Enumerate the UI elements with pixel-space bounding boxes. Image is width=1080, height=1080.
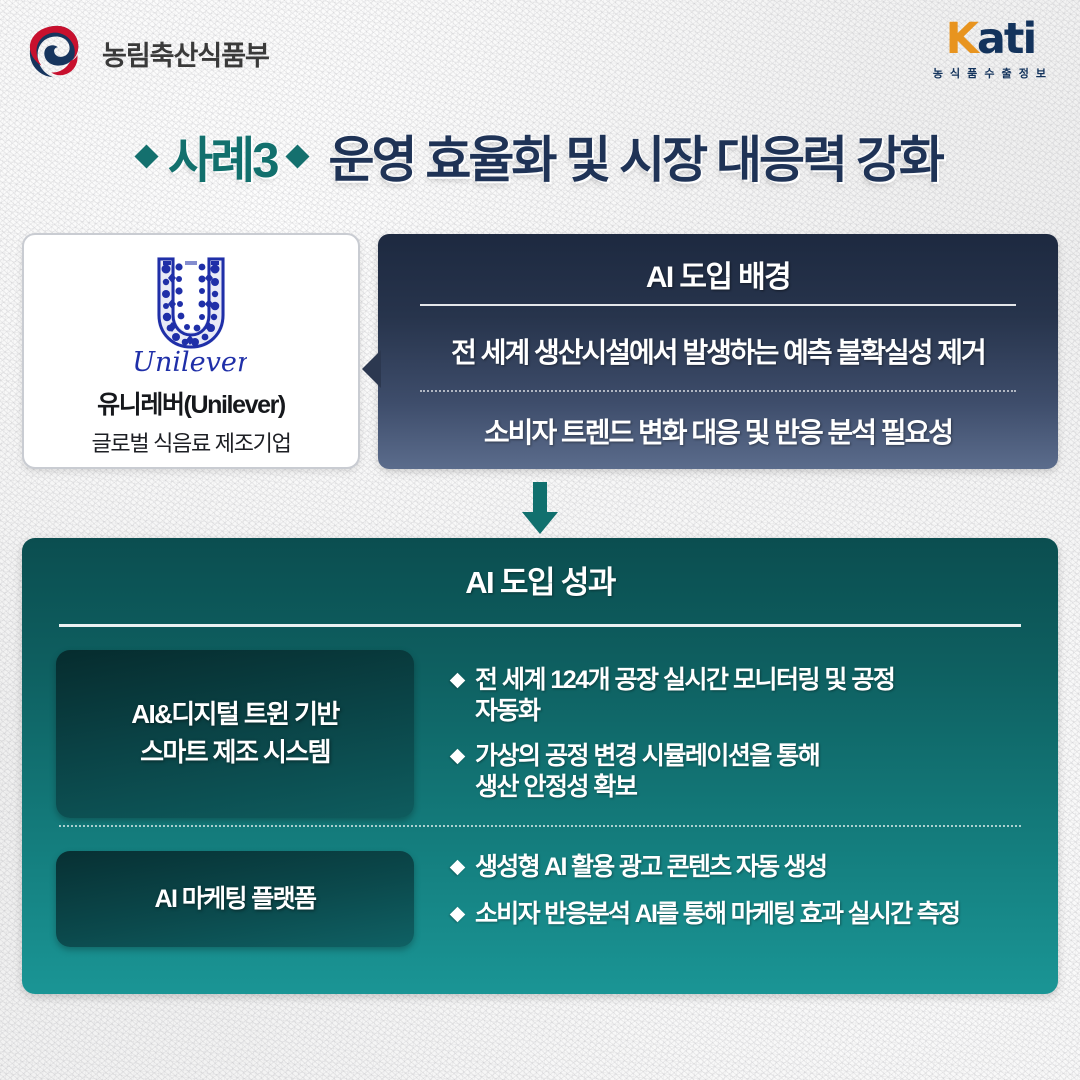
ai-background-panel: AI 도입 배경 전 세계 생산시설에서 발생하는 예측 불확실성 제거 소비자… [378,234,1058,469]
diamond-bullet-icon [450,748,466,764]
case-label: 사례3 [168,121,276,192]
result-label-box: AI&디지털 트윈 기반 스마트 제조 시스템 [56,650,414,818]
bullet-text: 생성형 AI 활용 광고 콘텐츠 자동 생성 [475,852,826,884]
ai-results-title: AI 도입 성과 [22,557,1058,602]
ai-results-panel: AI 도입 성과 AI&디지털 트윈 기반 스마트 제조 시스템 전 세계 12… [22,538,1058,994]
korea-government-taegeuk-icon [26,22,88,84]
diamond-bullet-icon [450,859,466,875]
diamond-bullet-icon [450,907,466,923]
ai-background-items: 전 세계 생산시설에서 발생하는 예측 불확실성 제거 소비자 트렌드 변화 대… [378,312,1058,469]
kati-wordmark: Kati [933,18,1048,61]
ai-background-item: 소비자 트렌드 변화 대응 및 반응 분석 필요성 [378,392,1058,469]
ai-background-item: 전 세계 생산시설에서 발생하는 예측 불확실성 제거 [378,312,1058,390]
title-heading: 운영 효율화 및 시장 대응력 강화 [328,120,941,192]
company-card: Unilever 유니레버(Unilever) 글로벌 식음료 제조기업 [22,233,360,469]
result-row: AI 마케팅 플랫폼 생성형 AI 활용 광고 콘텐츠 자동 생성 소비자 반응… [22,841,1058,957]
result-label-box: AI 마케팅 플랫폼 [56,851,414,947]
arrow-down-icon [517,482,563,536]
result-bullet-list: 전 세계 124개 공장 실시간 모니터링 및 공정자동화 가상의 공정 변경 … [414,665,1024,804]
kati-subtitle: 농 식 품 수 출 정 보 [933,65,1048,81]
panel-divider [420,304,1016,306]
bullet-text: 소비자 반응분석 AI를 통해 마케팅 효과 실시간 측정 [475,899,959,931]
panel-pointer-notch [362,350,381,388]
list-item: 소비자 반응분석 AI를 통해 마케팅 효과 실시간 측정 [452,899,1024,931]
result-label-line: AI&디지털 트윈 기반 [131,696,338,734]
kati-letter-k: K [946,14,977,64]
ai-background-title: AI 도입 배경 [378,252,1058,296]
bullet-text: 전 세계 124개 공장 실시간 모니터링 및 공정자동화 [475,665,894,728]
list-item: 가상의 공정 변경 시뮬레이션을 통해생산 안정성 확보 [452,741,1024,804]
result-row-divider [59,825,1021,827]
panel-divider [59,624,1021,627]
list-item: 전 세계 124개 공장 실시간 모니터링 및 공정자동화 [452,665,1024,728]
result-bullet-list: 생성형 AI 활용 광고 콘텐츠 자동 생성 소비자 반응분석 AI를 통해 마… [414,852,1024,947]
unilever-logo-icon: Unilever [135,249,247,381]
ministry-name: 농림축산식품부 [102,34,269,73]
bullet-text: 가상의 공정 변경 시뮬레이션을 통해생산 안정성 확보 [475,741,819,804]
company-description: 글로벌 식음료 제조기업 [91,426,290,458]
company-name: 유니레버(Unilever) [97,385,285,421]
result-row: AI&디지털 트윈 기반 스마트 제조 시스템 전 세계 124개 공장 실시간… [22,643,1058,825]
diamond-bullet-icon-right [286,144,310,168]
ministry-branding: 농림축산식품부 [26,22,269,84]
kati-letters-ati: ati [977,14,1035,64]
page-header: 농림축산식품부 Kati 농 식 품 수 출 정 보 [0,0,1080,110]
diamond-bullet-icon [450,672,466,688]
unilever-wordmark: Unilever [135,347,247,378]
diamond-bullet-icon-left [135,144,159,168]
page-title: 사례3 운영 효율화 및 시장 대응력 강화 [0,118,1080,194]
result-label-line: AI 마케팅 플랫폼 [155,881,316,917]
list-item: 생성형 AI 활용 광고 콘텐츠 자동 생성 [452,852,1024,884]
result-label-line: 스마트 제조 시스템 [140,734,330,772]
kati-branding: Kati 농 식 품 수 출 정 보 [933,18,1048,81]
case-tag: 사례3 [138,121,306,192]
